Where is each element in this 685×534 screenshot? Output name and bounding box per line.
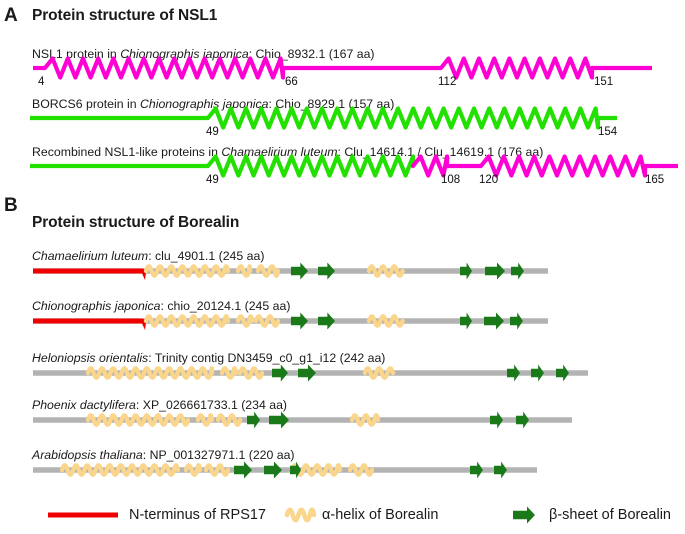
protein-diagram-borcs6-chionographis: 49154 bbox=[0, 106, 685, 138]
helix-segment bbox=[481, 157, 645, 176]
residue-tick-label: 120 bbox=[479, 174, 498, 186]
beta-sheet-icon bbox=[510, 313, 523, 330]
legend-n-terminus-label: N-terminus of RPS17 bbox=[129, 508, 266, 523]
beta-sheet-icon bbox=[531, 365, 544, 382]
alpha-helix-icon bbox=[350, 465, 372, 474]
alpha-helix-icon bbox=[352, 415, 378, 424]
protein-diagram-borealin-phoenix-dactylifera bbox=[0, 407, 685, 435]
beta-sheet-icon bbox=[511, 263, 524, 280]
beta-sheet-icon bbox=[513, 507, 535, 524]
beta-sheet-icon bbox=[460, 313, 472, 330]
residue-tick-label: 112 bbox=[438, 76, 456, 88]
helix-segment bbox=[413, 157, 447, 176]
beta-sheet-icon bbox=[490, 412, 503, 429]
alpha-helix-icon bbox=[238, 266, 250, 275]
beta-sheet-icon bbox=[298, 365, 316, 382]
panel-title-a: Protein structure of NSL1 bbox=[32, 8, 217, 24]
residue-tick-label: 66 bbox=[285, 76, 298, 88]
alpha-helix-icon bbox=[256, 316, 278, 325]
protein-diagram-nsl1-chionographis: 466112151 bbox=[0, 56, 685, 88]
protein-diagram-borealin-chamaelirium-luteum bbox=[0, 258, 685, 286]
panel-title-b: Protein structure of Borealin bbox=[32, 215, 239, 231]
residue-tick-label: 154 bbox=[598, 126, 618, 138]
beta-sheet-icon bbox=[318, 263, 335, 280]
beta-sheet-icon bbox=[264, 462, 282, 479]
panel-letter-b: B bbox=[4, 196, 18, 215]
protein-diagram-nsl1-like-chamaelirium: 49108120165 bbox=[0, 154, 685, 186]
beta-sheet-icon bbox=[484, 313, 504, 330]
beta-sheet-icon bbox=[291, 313, 308, 330]
alpha-helix-icon bbox=[218, 415, 240, 424]
beta-sheet-icon bbox=[470, 462, 483, 479]
protein-diagram-borealin-chionographis-japonica bbox=[0, 308, 685, 336]
legend-alpha-helix-label: α-helix of Borealin bbox=[322, 508, 438, 523]
helix-segment bbox=[208, 109, 598, 128]
beta-sheet-icon bbox=[269, 412, 289, 429]
alpha-helix-icon bbox=[62, 465, 178, 474]
beta-sheet-icon bbox=[507, 365, 520, 382]
protein-diagram-borealin-heloniopsis-orientalis bbox=[0, 360, 685, 388]
residue-tick-label: 49 bbox=[206, 174, 219, 186]
residue-tick-label: 108 bbox=[441, 174, 460, 186]
beta-sheet-icon bbox=[556, 365, 569, 382]
alpha-helix-icon bbox=[369, 316, 403, 325]
beta-sheet-icon bbox=[318, 313, 335, 330]
alpha-helix-icon bbox=[369, 266, 403, 275]
beta-sheet-icon bbox=[485, 263, 505, 280]
legend-beta-sheet-label: β-sheet of Borealin bbox=[549, 508, 671, 523]
alpha-helix-icon bbox=[238, 316, 252, 325]
alpha-helix-icon bbox=[222, 368, 236, 377]
protein-diagram-borealin-arabidopsis-thaliana bbox=[0, 457, 685, 485]
alpha-helix-icon bbox=[287, 510, 314, 520]
alpha-helix-icon bbox=[88, 415, 188, 424]
beta-sheet-icon bbox=[516, 412, 529, 429]
residue-tick-label: 4 bbox=[38, 76, 45, 88]
residue-tick-label: 165 bbox=[645, 174, 664, 186]
beta-sheet-icon bbox=[291, 263, 308, 280]
alpha-helix-icon bbox=[186, 465, 200, 474]
alpha-helix-icon bbox=[198, 415, 212, 424]
helix-segment bbox=[441, 59, 592, 78]
helix-segment bbox=[208, 157, 413, 176]
residue-tick-label: 151 bbox=[594, 76, 613, 88]
beta-sheet-icon bbox=[494, 462, 507, 479]
alpha-helix-icon bbox=[206, 465, 228, 474]
beta-sheet-icon bbox=[272, 365, 288, 382]
beta-sheet-icon bbox=[247, 412, 260, 429]
alpha-helix-icon bbox=[240, 368, 262, 377]
beta-sheet-icon bbox=[234, 462, 252, 479]
residue-tick-label: 49 bbox=[206, 126, 219, 138]
beta-sheet-icon bbox=[460, 263, 472, 280]
helix-segment bbox=[45, 59, 283, 78]
panel-letter-a: A bbox=[4, 6, 18, 25]
alpha-helix-icon bbox=[88, 368, 212, 377]
